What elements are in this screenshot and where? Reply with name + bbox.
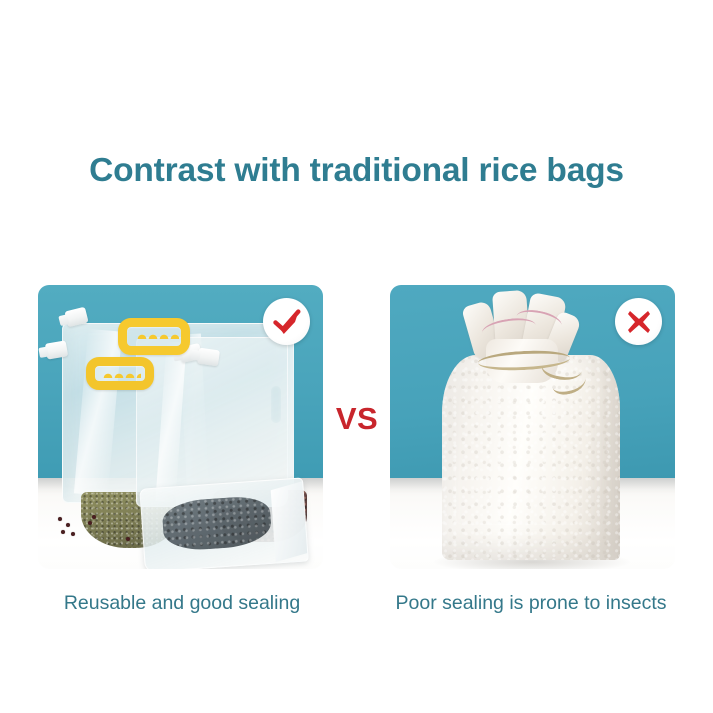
scattered-bean: [66, 523, 70, 527]
handle-grip-ridges: [137, 332, 179, 339]
page-title: Contrast with traditional rice bags: [0, 152, 713, 190]
yellow-carry-handle: [86, 357, 154, 390]
rice-sack-body: [442, 355, 620, 560]
grain-fill-black-beans: [161, 495, 272, 552]
plastic-sheen: [155, 341, 186, 502]
caption-left: Reusable and good sealing: [46, 592, 318, 615]
scattered-bean: [92, 515, 96, 519]
scattered-bean: [126, 537, 130, 541]
cross-badge: [615, 298, 662, 345]
scattered-bean: [61, 530, 65, 534]
product-comparison-graphic: Contrast with traditional rice bags: [0, 0, 713, 713]
handle-grip-ridges: [103, 371, 141, 378]
scattered-bean: [58, 517, 62, 521]
product-photo-reusable-pouches: [38, 285, 323, 569]
comparison-panel-right: [390, 285, 675, 569]
check-badge: [263, 298, 310, 345]
scattered-bean: [71, 532, 75, 536]
yellow-carry-handle: [118, 318, 190, 355]
comparison-panel-left: [38, 285, 323, 569]
product-photo-traditional-rice-sack: [390, 285, 675, 569]
plastic-sheen: [74, 329, 122, 496]
caption-right: Poor sealing is prone to insects: [370, 592, 692, 615]
bag-fold-edge: [271, 481, 309, 562]
versus-label: VS: [323, 401, 391, 437]
flat-storage-bag: [139, 477, 308, 569]
pouch-spout-cap: [197, 348, 220, 367]
rice-grain-texture: [442, 355, 620, 560]
scattered-bean: [88, 521, 92, 525]
